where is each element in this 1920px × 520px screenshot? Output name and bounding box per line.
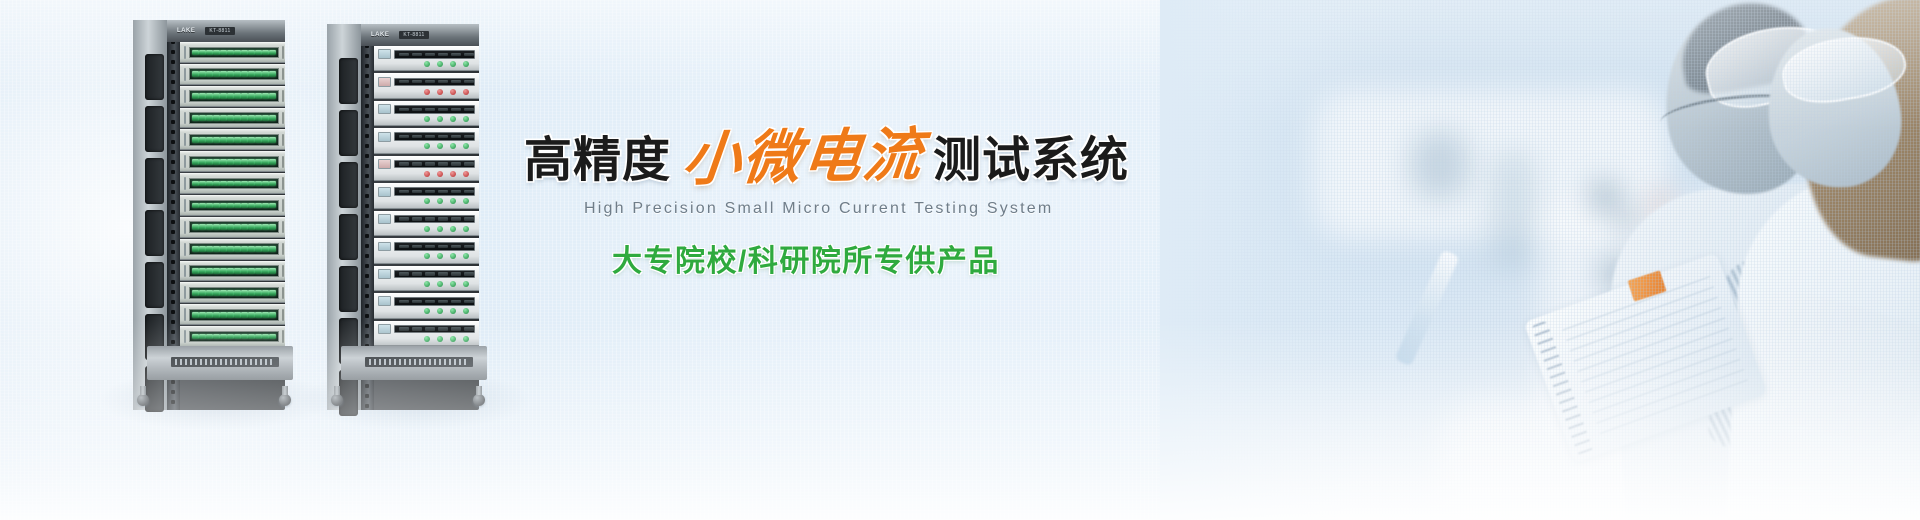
channel-led-indicator (199, 159, 206, 165)
lcd-digit (412, 217, 422, 220)
channel-led-indicator (220, 181, 227, 187)
lcd-digit (438, 80, 448, 83)
channel-led-indicator (213, 71, 220, 77)
channel-led-indicator (269, 115, 276, 121)
instrument-brand-badge (378, 242, 391, 252)
rail-hole (171, 150, 175, 154)
channel-led-indicator (220, 203, 227, 209)
channel-led-indicator (206, 268, 213, 274)
channel-led-indicator (199, 50, 206, 56)
lcd-digit (399, 300, 409, 303)
instrument-indicator-button[interactable] (463, 308, 469, 314)
instrument-indicator-button[interactable] (463, 143, 469, 149)
instrument-lcd-display (394, 132, 475, 141)
lcd-digit (399, 245, 409, 248)
rack-unit-instrument (374, 183, 479, 208)
lcd-digit (438, 162, 448, 165)
channel-led-indicator (234, 224, 241, 230)
channel-led-indicator (262, 50, 269, 56)
unit-knob[interactable] (282, 156, 284, 168)
unit-display (184, 265, 186, 278)
vent-slot-icon (339, 214, 358, 260)
lcd-digit (425, 53, 435, 56)
lcd-digit (412, 162, 422, 165)
lcd-digit (438, 53, 448, 56)
instrument-brand-badge (378, 77, 391, 87)
channel-led-indicator (255, 224, 262, 230)
lcd-digit (438, 108, 448, 111)
channel-led-indicator (248, 50, 255, 56)
instrument-top-row (378, 214, 475, 225)
channel-led-indicator (234, 93, 241, 99)
rail-hole (171, 240, 175, 244)
channel-led-indicator (262, 203, 269, 209)
channel-led-indicator (192, 290, 199, 296)
lcd-digit (412, 108, 422, 111)
channel-led-indicator (220, 50, 227, 56)
instrument-brand-badge (378, 269, 391, 279)
instrument-indicator-button[interactable] (450, 61, 456, 67)
channel-led-indicator (213, 290, 220, 296)
unit-knob[interactable] (282, 199, 284, 211)
channel-led-indicator (213, 137, 220, 143)
instrument-indicator-button[interactable] (463, 171, 469, 177)
channel-led-indicator (262, 115, 269, 121)
channel-led-indicator (241, 224, 248, 230)
channel-led-indicator (262, 181, 269, 187)
rack-brand-label: LAKE (371, 32, 389, 38)
unit-knob[interactable] (282, 68, 284, 80)
instrument-button-row (378, 87, 475, 96)
lcd-digit (412, 300, 422, 303)
channel-led-indicator (269, 203, 276, 209)
instrument-indicator-button[interactable] (463, 61, 469, 67)
instrument-button-row (378, 252, 475, 261)
lcd-digit (425, 190, 435, 193)
channel-led-indicator (234, 290, 241, 296)
lcd-digit (464, 80, 474, 83)
vent-slot-icon (339, 58, 358, 104)
instrument-lcd-display (394, 50, 475, 59)
channel-led-indicator (262, 93, 269, 99)
channel-led-indicator (213, 312, 220, 318)
instrument-indicator-button[interactable] (424, 281, 430, 287)
channel-led-indicator (241, 159, 248, 165)
rail-hole (171, 90, 175, 94)
instrument-brand-badge (378, 187, 391, 197)
rail-hole (171, 160, 175, 164)
lcd-digit (464, 53, 474, 56)
unit-display (184, 46, 186, 59)
channel-led-indicator (192, 115, 199, 121)
instrument-top-row (378, 76, 475, 87)
channel-led-indicator (248, 224, 255, 230)
channel-led-indicator (255, 312, 262, 318)
lcd-digit (399, 80, 409, 83)
channel-led-indicator (248, 159, 255, 165)
unit-led-strip (189, 178, 279, 190)
channel-led-indicator (192, 246, 199, 252)
instrument-button-row (378, 224, 475, 233)
channel-led-indicator (227, 268, 234, 274)
channel-led-indicator (220, 71, 227, 77)
rack-unit-instrument (374, 211, 479, 236)
channel-led-indicator (227, 224, 234, 230)
channel-led-indicator (262, 137, 269, 143)
channel-led-indicator (255, 71, 262, 77)
channel-led-indicator (241, 203, 248, 209)
unit-led-strip (189, 200, 279, 212)
rail-hole (365, 104, 369, 108)
instrument-brand-badge (378, 159, 391, 169)
lcd-digit (464, 300, 474, 303)
instrument-top-row (378, 296, 475, 307)
channel-led-indicator (220, 224, 227, 230)
instrument-top-row (378, 241, 475, 252)
rack-unit-green-channel-panel (180, 282, 285, 303)
rail-hole (365, 114, 369, 118)
channel-led-indicator (220, 137, 227, 143)
channel-led-indicator (241, 268, 248, 274)
rail-hole (365, 274, 369, 278)
channel-led-indicator (234, 246, 241, 252)
channel-led-indicator (192, 181, 199, 187)
unit-knob[interactable] (282, 243, 284, 255)
instrument-indicator-button[interactable] (437, 61, 443, 67)
instrument-indicator-button[interactable] (463, 281, 469, 287)
channel-led-indicator (199, 93, 206, 99)
instrument-indicator-button[interactable] (463, 226, 469, 232)
channel-led-indicator (213, 203, 220, 209)
instrument-indicator-button[interactable] (424, 308, 430, 314)
lcd-digit (399, 162, 409, 165)
rail-hole (365, 154, 369, 158)
vent-slot-icon (339, 266, 358, 312)
lcd-digit (464, 135, 474, 138)
channel-led-indicator (241, 93, 248, 99)
instrument-indicator-button[interactable] (437, 253, 443, 259)
lcd-digit (425, 217, 435, 220)
rail-hole (171, 80, 175, 84)
channel-led-indicator (213, 246, 220, 252)
channel-led-indicator (262, 224, 269, 230)
channel-led-indicator (206, 290, 213, 296)
rail-hole (365, 244, 369, 248)
channel-led-indicator (199, 268, 206, 274)
unit-led-strip (189, 309, 279, 321)
instrument-indicator-button[interactable] (424, 89, 430, 95)
rail-hole (171, 70, 175, 74)
instrument-indicator-button[interactable] (437, 143, 443, 149)
channel-led-indicator (241, 312, 248, 318)
unit-knob[interactable] (282, 90, 284, 102)
channel-led-indicator (269, 312, 276, 318)
background-bottom-fade (0, 320, 1920, 520)
channel-led-indicator (227, 159, 234, 165)
rail-hole (171, 250, 175, 254)
lcd-digit (412, 80, 422, 83)
channel-led-indicator (213, 115, 220, 121)
channel-led-indicator (213, 159, 220, 165)
channel-led-indicator (192, 93, 199, 99)
lcd-digit (412, 245, 422, 248)
lcd-digit (464, 272, 474, 275)
instrument-indicator-button[interactable] (437, 116, 443, 122)
channel-led-indicator (262, 312, 269, 318)
unit-display (184, 68, 186, 81)
instrument-indicator-button[interactable] (424, 226, 430, 232)
instrument-indicator-button[interactable] (424, 198, 430, 204)
lcd-digit (399, 190, 409, 193)
unit-knob[interactable] (282, 221, 284, 233)
unit-knob[interactable] (282, 134, 284, 146)
headline-part-2-highlight: 小微电流 (680, 127, 926, 187)
channel-led-indicator (220, 312, 227, 318)
channel-led-indicator (241, 246, 248, 252)
channel-led-indicator (269, 93, 276, 99)
lcd-digit (464, 190, 474, 193)
channel-led-indicator (269, 137, 276, 143)
channel-led-indicator (206, 93, 213, 99)
instrument-indicator-button[interactable] (437, 89, 443, 95)
channel-led-indicator (262, 246, 269, 252)
lcd-digit (464, 162, 474, 165)
instrument-indicator-button[interactable] (450, 116, 456, 122)
rail-hole (171, 140, 175, 144)
page-title: 高精度 小微电流 测试系统 (524, 130, 1129, 185)
channel-led-indicator (227, 137, 234, 143)
instrument-indicator-button[interactable] (450, 308, 456, 314)
channel-led-indicator (234, 268, 241, 274)
channel-led-indicator (255, 115, 262, 121)
lcd-digit (451, 80, 461, 83)
rail-hole (171, 200, 175, 204)
rail-hole (365, 304, 369, 308)
channel-led-indicator (206, 71, 213, 77)
rack-unit-green-channel-panel (180, 261, 285, 282)
unit-knob[interactable] (282, 287, 284, 299)
lcd-digit (412, 272, 422, 275)
rail-hole (365, 54, 369, 58)
unit-display (184, 133, 186, 146)
lcd-digit (451, 217, 461, 220)
channel-led-indicator (227, 290, 234, 296)
instrument-indicator-button[interactable] (424, 253, 430, 259)
lcd-digit (425, 80, 435, 83)
channel-led-indicator (199, 290, 206, 296)
channel-led-indicator (234, 71, 241, 77)
channel-led-indicator (269, 268, 276, 274)
channel-led-indicator (234, 50, 241, 56)
instrument-lcd-display (394, 242, 475, 251)
channel-led-indicator (199, 71, 206, 77)
channel-led-indicator (213, 181, 220, 187)
channel-led-indicator (248, 93, 255, 99)
instrument-indicator-button[interactable] (450, 89, 456, 95)
channel-led-indicator (248, 181, 255, 187)
lcd-digit (425, 272, 435, 275)
instrument-indicator-button[interactable] (450, 143, 456, 149)
rail-hole (171, 190, 175, 194)
lcd-digit (438, 272, 448, 275)
instrument-indicator-button[interactable] (424, 116, 430, 122)
channel-led-indicator (262, 290, 269, 296)
unit-display (184, 155, 186, 168)
vent-slot-icon (145, 54, 164, 100)
lcd-digit (451, 272, 461, 275)
rack-unit-green-channel-panel (180, 86, 285, 107)
channel-led-indicator (248, 203, 255, 209)
rail-hole (171, 110, 175, 114)
rack-unit-instrument (374, 46, 479, 71)
instrument-lcd-display (394, 270, 475, 279)
tagline: 大专院校/科研院所专供产品 (612, 236, 1000, 280)
instrument-indicator-button[interactable] (450, 253, 456, 259)
rail-hole (365, 134, 369, 138)
unit-led-strip (189, 265, 279, 277)
instrument-indicator-button[interactable] (437, 171, 443, 177)
rail-hole (365, 74, 369, 78)
rail-hole (171, 290, 175, 294)
unit-led-strip (189, 134, 279, 146)
instrument-indicator-button[interactable] (450, 198, 456, 204)
channel-led-indicator (269, 290, 276, 296)
rail-hole (365, 214, 369, 218)
instrument-brand-badge (378, 296, 391, 306)
channel-led-indicator (227, 246, 234, 252)
channel-led-indicator (227, 181, 234, 187)
rail-hole (365, 84, 369, 88)
unit-knob[interactable] (282, 112, 284, 124)
vent-slot-icon (339, 110, 358, 156)
instrument-indicator-button[interactable] (450, 226, 456, 232)
instrument-indicator-button[interactable] (450, 281, 456, 287)
channel-led-indicator (255, 137, 262, 143)
channel-led-indicator (206, 203, 213, 209)
channel-led-indicator (248, 268, 255, 274)
instrument-indicator-button[interactable] (424, 143, 430, 149)
channel-led-indicator (220, 290, 227, 296)
lcd-digit (425, 245, 435, 248)
instrument-indicator-button[interactable] (437, 198, 443, 204)
channel-led-indicator (255, 203, 262, 209)
instrument-lcd-display (394, 297, 475, 306)
channel-led-indicator (227, 312, 234, 318)
channel-led-indicator (248, 290, 255, 296)
instrument-indicator-button[interactable] (437, 308, 443, 314)
channel-led-indicator (234, 159, 241, 165)
instrument-top-row (378, 269, 475, 280)
instrument-button-row (378, 170, 475, 179)
instrument-indicator-button[interactable] (437, 226, 443, 232)
channel-led-indicator (227, 71, 234, 77)
unit-led-strip (189, 156, 279, 168)
rail-hole (365, 174, 369, 178)
instrument-button-row (378, 307, 475, 316)
instrument-indicator-button[interactable] (424, 61, 430, 67)
unit-led-strip (189, 68, 279, 80)
rack-unit-instrument (374, 238, 479, 263)
rack-unit-green-channel-panel (180, 195, 285, 216)
lcd-digit (464, 217, 474, 220)
lcd-digit (451, 108, 461, 111)
instrument-indicator-button[interactable] (463, 198, 469, 204)
rail-hole (365, 94, 369, 98)
rail-hole (171, 60, 175, 64)
channel-led-indicator (241, 115, 248, 121)
instrument-indicator-button[interactable] (463, 253, 469, 259)
channel-led-indicator (213, 93, 220, 99)
instrument-brand-badge (378, 104, 391, 114)
channel-led-indicator (206, 224, 213, 230)
channel-led-indicator (213, 50, 220, 56)
vent-slot-icon (145, 158, 164, 204)
rail-hole (171, 310, 175, 314)
rail-hole (365, 144, 369, 148)
lcd-digit (399, 135, 409, 138)
instrument-top-row (378, 49, 475, 60)
channel-led-indicator (241, 71, 248, 77)
rack-unit-instrument (374, 293, 479, 318)
rack-top-cap: LAKE KT-8811 (167, 20, 285, 42)
channel-led-indicator (192, 312, 199, 318)
lcd-digit (451, 245, 461, 248)
channel-led-indicator (241, 50, 248, 56)
unit-knob[interactable] (282, 265, 284, 277)
rail-hole (365, 124, 369, 128)
instrument-brand-badge (378, 132, 391, 142)
channel-led-indicator (248, 312, 255, 318)
instrument-indicator-button[interactable] (450, 171, 456, 177)
instrument-brand-badge (378, 49, 391, 59)
channel-led-indicator (255, 50, 262, 56)
channel-led-indicator (248, 115, 255, 121)
rail-hole (365, 284, 369, 288)
rail-hole (171, 120, 175, 124)
english-subtitle: High Precision Small Micro Current Testi… (584, 200, 1053, 218)
channel-led-indicator (269, 181, 276, 187)
lcd-digit (451, 135, 461, 138)
unit-knob[interactable] (282, 46, 284, 58)
channel-led-indicator (220, 246, 227, 252)
instrument-indicator-button[interactable] (424, 171, 430, 177)
channel-led-indicator (269, 224, 276, 230)
instrument-button-row (378, 197, 475, 206)
instrument-indicator-button[interactable] (463, 116, 469, 122)
rail-hole (171, 100, 175, 104)
unit-led-strip (189, 221, 279, 233)
channel-led-indicator (192, 159, 199, 165)
unit-display (184, 112, 186, 125)
rail-hole (171, 270, 175, 274)
channel-led-indicator (227, 93, 234, 99)
unit-display (184, 286, 186, 299)
channel-led-indicator (234, 203, 241, 209)
instrument-indicator-button[interactable] (437, 281, 443, 287)
rack-unit-instrument (374, 266, 479, 291)
vent-slot-icon (145, 262, 164, 308)
unit-knob[interactable] (282, 177, 284, 189)
lcd-digit (451, 162, 461, 165)
instrument-indicator-button[interactable] (463, 89, 469, 95)
lcd-digit (425, 135, 435, 138)
rail-hole (365, 184, 369, 188)
channel-led-indicator (234, 137, 241, 143)
lcd-digit (438, 245, 448, 248)
rack-unit-instrument (374, 128, 479, 153)
vent-slot-icon (339, 162, 358, 208)
vent-slot-icon (145, 106, 164, 152)
